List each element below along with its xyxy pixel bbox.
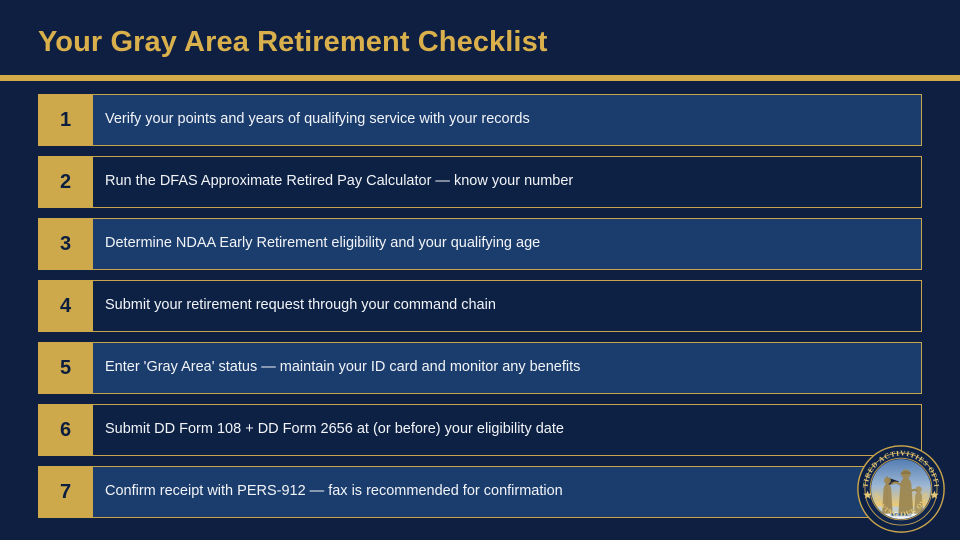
checklist-step-number: 6 <box>38 404 93 456</box>
checklist-step-panel: Submit DD Form 108 + DD Form 2656 at (or… <box>93 404 922 456</box>
checklist-step-number: 5 <box>38 342 93 394</box>
checklist-step-number: 1 <box>38 94 93 146</box>
checklist-step-number: 2 <box>38 156 93 208</box>
checklist-step-panel: Enter 'Gray Area' status — maintain your… <box>93 342 922 394</box>
checklist-step-panel: Submit your retirement request through y… <box>93 280 922 332</box>
checklist-step-text: Confirm receipt with PERS-912 — fax is r… <box>105 483 563 500</box>
checklist-step-panel: Determine NDAA Early Retirement eligibil… <box>93 218 922 270</box>
checklist-step-number: 3 <box>38 218 93 270</box>
checklist-step-panel: Run the DFAS Approximate Retired Pay Cal… <box>93 156 922 208</box>
checklist-step-text: Submit your retirement request through y… <box>105 297 496 314</box>
checklist-row[interactable]: 2Run the DFAS Approximate Retired Pay Ca… <box>38 156 922 208</box>
checklist-step-text: Enter 'Gray Area' status — maintain your… <box>105 359 580 376</box>
checklist-step-text: Determine NDAA Early Retirement eligibil… <box>105 235 540 252</box>
checklist-step-text: Run the DFAS Approximate Retired Pay Cal… <box>105 173 573 190</box>
checklist-row[interactable]: 7Confirm receipt with PERS-912 — fax is … <box>38 466 922 518</box>
checklist-row[interactable]: 1Verify your points and years of qualify… <box>38 94 922 146</box>
checklist-step-text: Submit DD Form 108 + DD Form 2656 at (or… <box>105 421 564 438</box>
slide-canvas: Your Gray Area Retirement Checklist 1Ver… <box>0 0 960 540</box>
checklist-step-text: Verify your points and years of qualifyi… <box>105 111 530 128</box>
checklist-step-number: 4 <box>38 280 93 332</box>
gold-divider-rule <box>0 75 960 81</box>
retired-activities-office-seal-icon: RETIRED ACTIVITIES OFFICE SERVING OUR OW… <box>857 445 945 533</box>
checklist-rows: 1Verify your points and years of qualify… <box>38 94 922 518</box>
checklist-row[interactable]: 5Enter 'Gray Area' status — maintain you… <box>38 342 922 394</box>
checklist-step-panel: Confirm receipt with PERS-912 — fax is r… <box>93 466 922 518</box>
checklist-step-panel: Verify your points and years of qualifyi… <box>93 94 922 146</box>
checklist-step-number: 7 <box>38 466 93 518</box>
checklist-row[interactable]: 4Submit your retirement request through … <box>38 280 922 332</box>
checklist-row[interactable]: 6Submit DD Form 108 + DD Form 2656 at (o… <box>38 404 922 456</box>
checklist-row[interactable]: 3Determine NDAA Early Retirement eligibi… <box>38 218 922 270</box>
page-title: Your Gray Area Retirement Checklist <box>38 26 548 59</box>
